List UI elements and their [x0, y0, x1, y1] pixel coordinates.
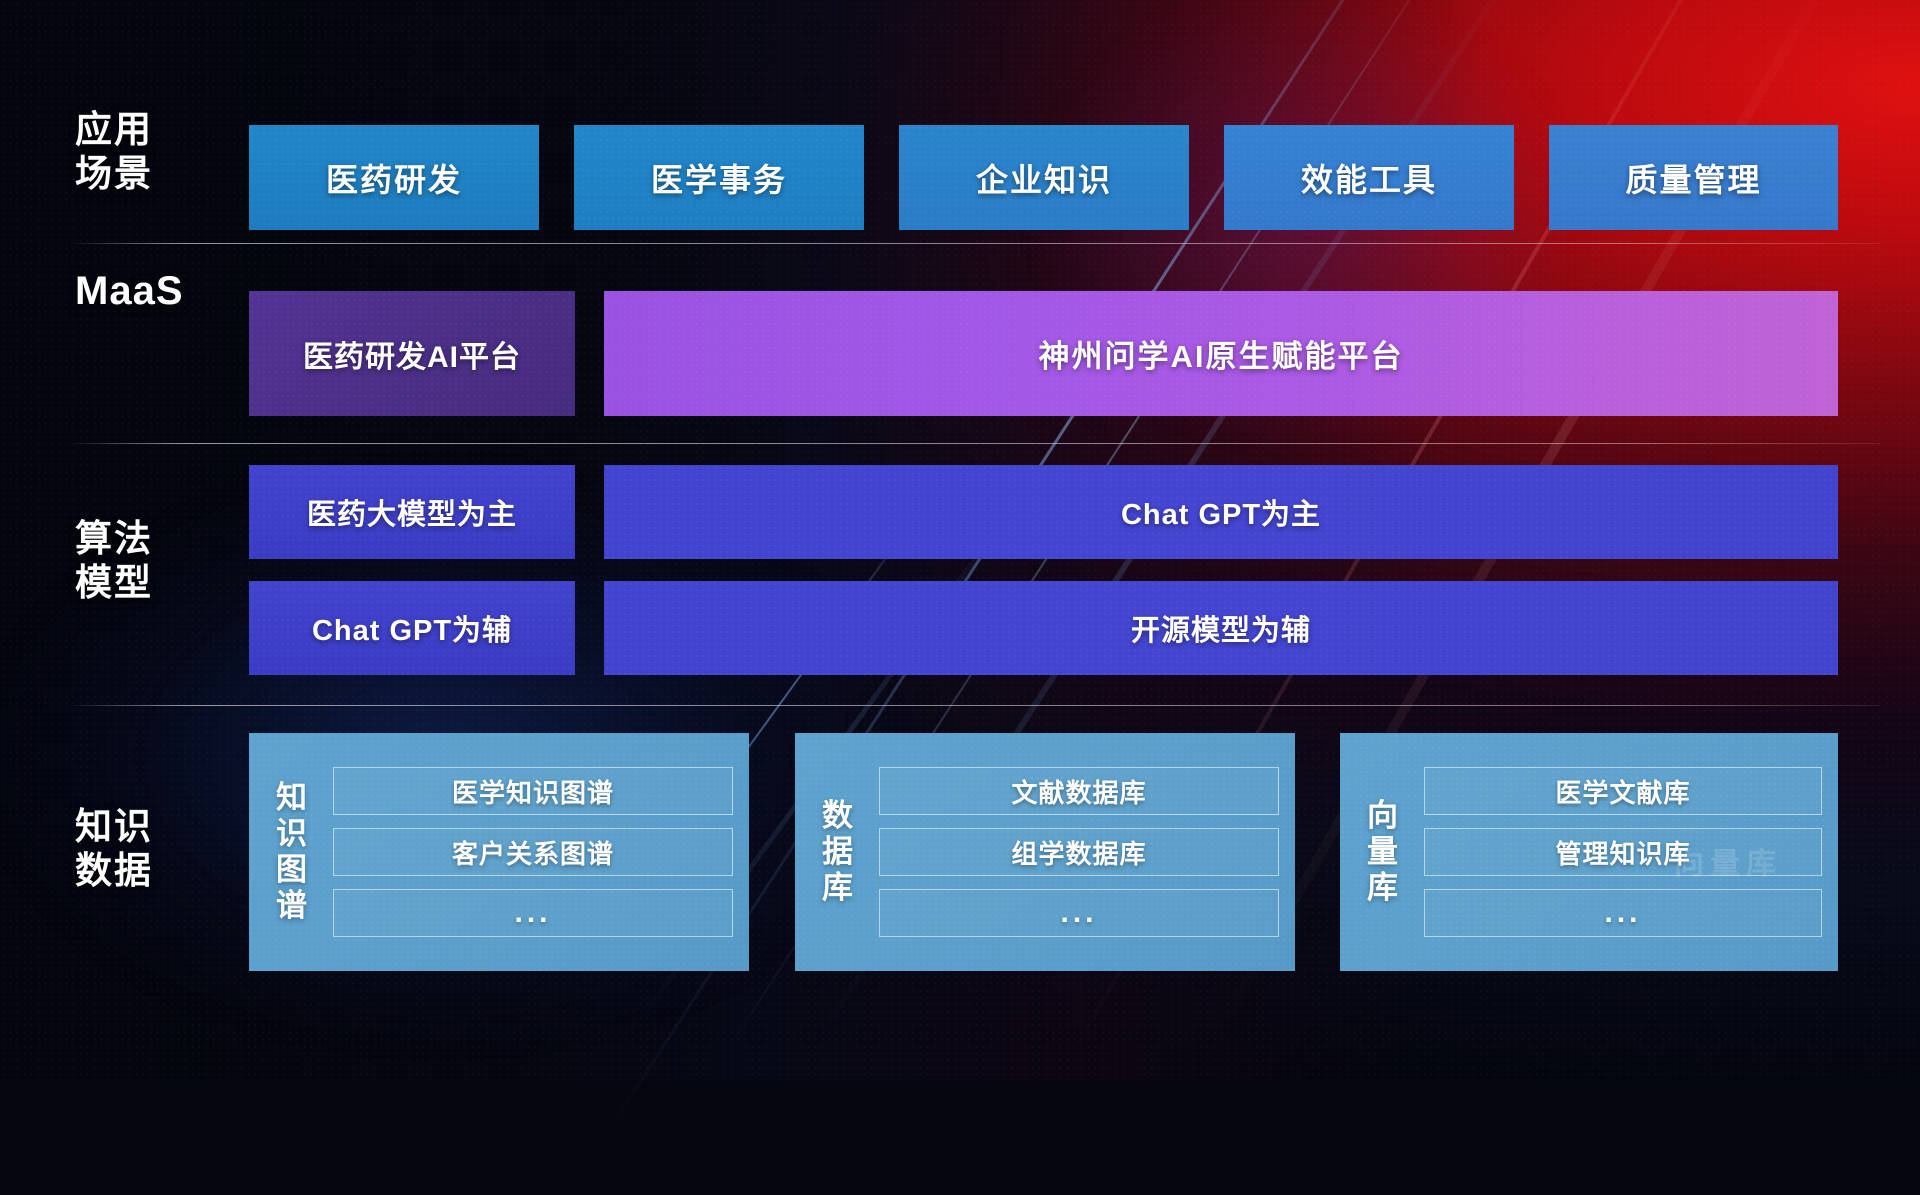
algorithm-box-secondary-right[interactable]: 开源模型为辅 [604, 581, 1838, 675]
knowledge-panel-database[interactable]: 数据库 文献数据库 组学数据库 ... [795, 733, 1295, 971]
row-label-knowledge-data: 知识 数据 [75, 805, 245, 892]
algorithm-box-primary-right[interactable]: Chat GPT为主 [604, 465, 1838, 559]
row-label-application-scenarios: 应用 场景 [75, 108, 245, 195]
row-label-algorithm-model: 算法 模型 [75, 517, 245, 604]
architecture-diagram: 应用 场景 医药研发 医学事务 企业知识 效能工具 质量管理 MaaS 医药研发… [0, 0, 1920, 1080]
maas-enablement-platform-bar[interactable]: 神州问学AI原生赋能平台 [604, 291, 1838, 416]
knowledge-item-more[interactable]: ... [333, 889, 733, 937]
knowledge-item[interactable]: 客户关系图谱 [333, 828, 733, 876]
knowledge-panel-title: 向量库 [1354, 798, 1412, 906]
knowledge-item[interactable]: 管理知识库 [1424, 828, 1822, 876]
app-scenario-label: 效能工具 [1301, 155, 1437, 201]
knowledge-item[interactable]: 文献数据库 [879, 767, 1279, 815]
knowledge-panel-items: 医学文献库 管理知识库 ... [1424, 767, 1822, 937]
algorithm-box-secondary-left[interactable]: Chat GPT为辅 [249, 581, 575, 675]
app-scenario-box-5[interactable]: 质量管理 [1549, 125, 1838, 230]
app-scenario-box-3[interactable]: 企业知识 [899, 125, 1189, 230]
knowledge-item[interactable]: 组学数据库 [879, 828, 1279, 876]
app-scenario-label: 企业知识 [976, 155, 1112, 201]
maas-platform-box[interactable]: 医药研发AI平台 [249, 291, 575, 416]
algorithm-label: 医药大模型为主 [307, 491, 517, 533]
knowledge-item[interactable]: 医学知识图谱 [333, 767, 733, 815]
app-scenario-label: 医学事务 [651, 155, 787, 201]
knowledge-item[interactable]: 医学文献库 [1424, 767, 1822, 815]
row-label-maas: MaaS [75, 268, 245, 315]
knowledge-panel-title: 知识图谱 [263, 780, 321, 924]
knowledge-panel-title: 数据库 [809, 798, 867, 906]
maas-platform-label: 医药研发AI平台 [303, 332, 521, 376]
app-scenario-box-1[interactable]: 医药研发 [249, 125, 539, 230]
algorithm-label: 开源模型为辅 [1131, 607, 1311, 649]
algorithm-box-primary-left[interactable]: 医药大模型为主 [249, 465, 575, 559]
algorithm-label: Chat GPT为辅 [312, 607, 512, 649]
app-scenario-label: 质量管理 [1625, 155, 1761, 201]
knowledge-panel-graph[interactable]: 知识图谱 医学知识图谱 客户关系图谱 ... [249, 733, 749, 971]
row-divider [74, 443, 1880, 444]
app-scenario-box-4[interactable]: 效能工具 [1224, 125, 1514, 230]
knowledge-panel-vector[interactable]: 向量库 向量库 医学文献库 管理知识库 ... [1340, 733, 1838, 971]
knowledge-panel-items: 文献数据库 组学数据库 ... [879, 767, 1279, 937]
maas-enablement-platform-label: 神州问学AI原生赋能平台 [1039, 331, 1404, 376]
algorithm-label: Chat GPT为主 [1121, 491, 1321, 533]
app-scenario-box-2[interactable]: 医学事务 [574, 125, 864, 230]
knowledge-item-more[interactable]: ... [1424, 889, 1822, 937]
row-divider [74, 705, 1880, 706]
row-divider [74, 243, 1880, 244]
app-scenario-label: 医药研发 [326, 155, 462, 201]
knowledge-panel-items: 医学知识图谱 客户关系图谱 ... [333, 767, 733, 937]
knowledge-item-more[interactable]: ... [879, 889, 1279, 937]
